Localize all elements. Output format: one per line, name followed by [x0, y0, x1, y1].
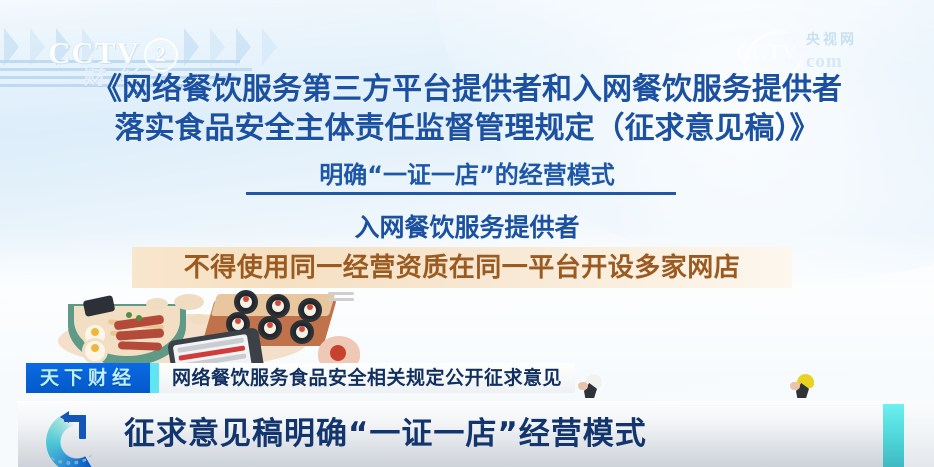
banner-separator — [150, 363, 159, 393]
crumb-icon — [146, 298, 168, 310]
program-banner: 天下财经 网络餐饮服务食品安全相关规定公开征求意见 — [26, 363, 575, 393]
program-name: 天下财经 — [26, 363, 150, 393]
ring-dots-icon — [48, 435, 92, 465]
egg-icon — [82, 338, 108, 364]
sushi-roll-icon — [266, 294, 290, 318]
key-point-2: 入网餐饮服务提供者 — [0, 212, 934, 244]
banner-headline: 网络餐饮服务食品安全相关规定公开征求意见 — [159, 363, 575, 393]
sushi-roll-icon — [298, 298, 322, 322]
meat-slice-icon — [118, 341, 162, 351]
document-title-line1: 《网络餐饮服务第三方平台提供者和入网餐饮服务提供者 — [92, 72, 842, 107]
bottom-ticker: 征求意见稿明确“一证一店”经营模式 — [18, 401, 934, 467]
crumb-icon — [190, 314, 208, 324]
document-title-line2: 落实食品安全主体责任监督管理规定（征求意见稿）》 — [0, 109, 934, 148]
sushi-roll-icon — [290, 320, 314, 344]
document-title: 《网络餐饮服务第三方平台提供者和入网餐饮服务提供者 落实食品安全主体责任监督管理… — [0, 70, 934, 148]
rider-arm — [790, 382, 800, 390]
broadcast-screen: CCTV2 财经 CCTV 央视网 com 《网络餐饮服务第三方平台提供者和入网… — [0, 0, 934, 467]
food-illustration — [22, 292, 362, 370]
crumb-icon — [174, 294, 204, 310]
sushi-roll-icon — [258, 316, 282, 340]
scallion-icon — [136, 315, 142, 321]
ticker-right-edge — [904, 401, 934, 467]
watermark-com-text: com — [806, 52, 843, 72]
scallion-icon — [126, 312, 132, 318]
chopstick-icon — [328, 298, 354, 301]
highlight-text: 不得使用同一经营资质在同一平台开设多家网店 — [184, 253, 741, 283]
watermark-cn-text: 央视网 — [806, 32, 857, 48]
delivery-rider-icon — [578, 374, 604, 400]
arrow-vertical — [79, 415, 86, 439]
delivery-rider-icon — [790, 374, 816, 400]
underline-divider — [246, 192, 676, 195]
ticker-accent-bar — [883, 404, 904, 467]
highlight-bar: 不得使用同一经营资质在同一平台开设多家网店 — [132, 247, 792, 288]
key-point-1: 明确“一证一店”的经营模式 — [0, 160, 934, 190]
watermark-cctv-text: CCTV — [736, 42, 798, 63]
sushi-roll-icon — [234, 290, 258, 314]
ticker-swoosh-logo — [40, 405, 106, 463]
ticker-headline: 征求意见稿明确“一证一店”经营模式 — [124, 416, 647, 452]
rider-arm — [578, 382, 588, 390]
chopstick-icon — [328, 292, 354, 295]
